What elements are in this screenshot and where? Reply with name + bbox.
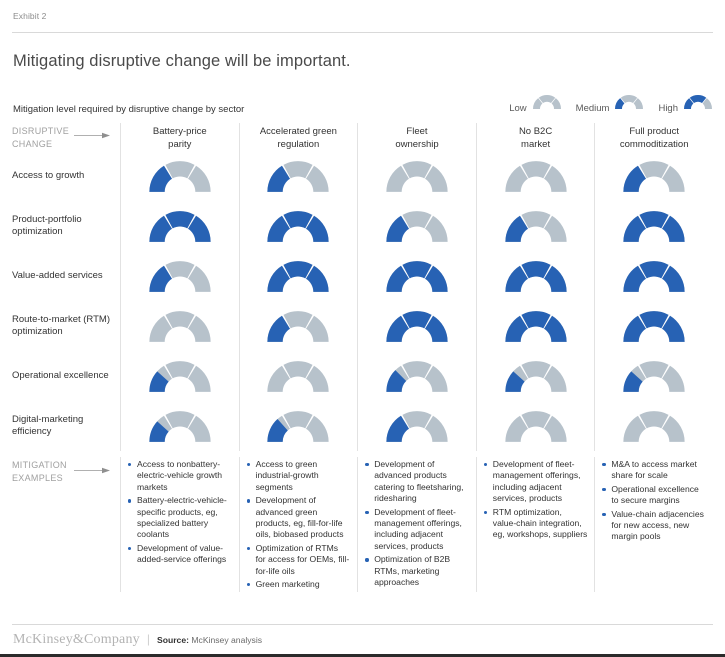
column-header-0-line1: Battery-price [124, 125, 236, 138]
legend-item-medium: Medium [576, 94, 645, 115]
column-header-3: No B2C market [476, 123, 595, 151]
source-value: McKinsey analysis [191, 635, 262, 645]
gauge-icon [621, 309, 687, 344]
column-header-2-line2: ownership [361, 138, 473, 151]
gauge-column-3 [476, 151, 595, 451]
row-label-4: Operational excellence [12, 351, 114, 401]
gauge-icon-high [683, 94, 713, 115]
bullet-item: Development of advanced products caterin… [365, 459, 469, 505]
exhibit-label: Exhibit 2 [12, 0, 713, 21]
right-arrow-icon [74, 467, 110, 474]
gauge-column-4 [594, 151, 713, 451]
legend-item-high: High [658, 94, 713, 115]
row-label-1-line2: optimization [12, 226, 82, 239]
bullet-item: M&A to access market share for scale [602, 459, 706, 482]
bullet-item: Development of fleet-management offering… [365, 507, 469, 553]
gauge-cell-r1-c4 [595, 201, 713, 251]
row-label-1: Product-portfolio optimization [12, 201, 114, 251]
gauge-cell-r4-c0 [121, 351, 239, 401]
row-label-3: Route-to-market (RTM) optimization [12, 301, 114, 351]
gauge-cell-r4-c3 [477, 351, 595, 401]
gauge-icon-low [532, 94, 562, 115]
gauge-cell-r1-c3 [477, 201, 595, 251]
gauge-column-1 [239, 151, 358, 451]
examples-column-0: Access to nonbattery-electric-vehicle gr… [120, 457, 239, 592]
disruptive-change-axis: DISRUPTIVE CHANGE [12, 123, 120, 150]
gauge-icon [503, 309, 569, 344]
row-label-1-line1: Product-portfolio [12, 214, 82, 225]
column-header-4-line1: Full product [598, 125, 710, 138]
gauge-cell-r4-c2 [358, 351, 476, 401]
gauge-icon [621, 409, 687, 444]
gauge-cell-r3-c4 [595, 301, 713, 351]
gauge-icon [621, 359, 687, 394]
bullet-item: Value-chain adjacencies for new access, … [602, 509, 706, 543]
gauge-icon [265, 259, 331, 294]
gauge-cell-r5-c2 [358, 401, 476, 451]
gauge-icon [503, 409, 569, 444]
bullet-list: Development of fleet-management offering… [484, 459, 588, 541]
bullet-item: Optimization of B2B RTMs, marketing appr… [365, 554, 469, 588]
bullet-item: Development of advanced green products, … [247, 495, 351, 541]
legend-label-low: Low [509, 103, 526, 115]
gauge-icon-medium [614, 94, 644, 115]
exhibit-page: Exhibit 2 Mitigating disruptive change w… [0, 0, 725, 657]
gauge-cell-r5-c3 [477, 401, 595, 451]
legend-label-high: High [658, 103, 678, 115]
gauge-icon [384, 309, 450, 344]
gauge-icon [384, 159, 450, 194]
column-header-4: Full product commoditization [594, 123, 713, 151]
gauge-cell-r4-c4 [595, 351, 713, 401]
column-header-1-line2: regulation [243, 138, 355, 151]
gauge-icon [384, 259, 450, 294]
gauge-cell-r3-c1 [240, 301, 358, 351]
row-label-0-line1: Access to growth [12, 170, 84, 181]
legend-label-medium: Medium [576, 103, 610, 115]
source-label: Source: [157, 635, 189, 645]
gauge-icon [147, 359, 213, 394]
examples-column-3: Development of fleet-management offering… [476, 457, 595, 592]
column-header-0: Battery-price parity [120, 123, 239, 151]
column-header-row: DISRUPTIVE CHANGE Battery-price parity A… [12, 123, 713, 151]
column-header-3-line2: market [480, 138, 592, 151]
bullet-item: Access to nonbattery-electric-vehicle gr… [128, 459, 232, 493]
row-label-column: Access to growth Product-portfolio optim… [12, 151, 120, 451]
footer: McKinsey&Company | Source: McKinsey anal… [13, 632, 262, 648]
examples-column-4: M&A to access market share for scaleOper… [594, 457, 713, 592]
examples-column-2: Development of advanced products caterin… [357, 457, 476, 592]
bullet-item: Operational excellence to secure margins [602, 484, 706, 507]
gauge-cell-r5-c1 [240, 401, 358, 451]
gauge-cell-r1-c0 [121, 201, 239, 251]
gauge-column-0 [120, 151, 239, 451]
gauge-icon [503, 359, 569, 394]
column-header-1: Accelerated green regulation [239, 123, 358, 151]
footer-divider [12, 624, 713, 625]
gauge-icon [265, 159, 331, 194]
bullet-item: Battery-electric-vehicle-specific produc… [128, 495, 232, 541]
row-label-0: Access to growth [12, 151, 114, 201]
source-note: Source: McKinsey analysis [157, 635, 262, 645]
row-label-3-line2: optimization [12, 326, 110, 339]
mitigation-examples-row: MITIGATION EXAMPLES Access to nonbattery… [12, 457, 713, 592]
gauge-icon [265, 209, 331, 244]
gauge-icon [147, 309, 213, 344]
column-header-2-line1: Fleet [361, 125, 473, 138]
gauge-icon [384, 359, 450, 394]
gauge-cell-r5-c0 [121, 401, 239, 451]
gauge-icon [147, 259, 213, 294]
bullet-list: Development of advanced products caterin… [365, 459, 469, 588]
gauge-icon [265, 309, 331, 344]
gauge-cell-r4-c1 [240, 351, 358, 401]
axis-title-line2: CHANGE [12, 138, 116, 151]
chart-subtitle: Mitigation level required by disruptive … [13, 104, 244, 115]
gauge-icon [265, 409, 331, 444]
header-divider [12, 32, 713, 33]
row-label-5: Digital-marketing efficiency [12, 401, 114, 451]
bullet-item: Access to green industrial-growth segmen… [247, 459, 351, 493]
page-title: Mitigating disruptive change will be imp… [12, 52, 713, 71]
row-label-2-line1: Value-added services [12, 270, 103, 281]
gauge-icon [384, 209, 450, 244]
column-header-3-line1: No B2C [480, 125, 592, 138]
gauge-cell-r0-c1 [240, 151, 358, 201]
bullet-item: Development of value-added-service offer… [128, 543, 232, 566]
bullet-list: Access to green industrial-growth segmen… [247, 459, 351, 590]
gauge-icon [147, 159, 213, 194]
bullet-item: Green marketing [247, 579, 351, 590]
bullet-item: RTM optimization, value-chain integratio… [484, 507, 588, 541]
row-label-3-line1: Route-to-market (RTM) [12, 314, 110, 325]
gauge-cell-r2-c0 [121, 251, 239, 301]
row-label-5-line2: efficiency [12, 426, 83, 439]
subtitle-legend-row: Mitigation level required by disruptive … [12, 93, 713, 115]
gauge-column-2 [357, 151, 476, 451]
row-label-2: Value-added services [12, 251, 114, 301]
mitigation-examples-axis: MITIGATION EXAMPLES [12, 457, 120, 592]
bullet-item: Development of fleet-management offering… [484, 459, 588, 505]
bullet-list: Access to nonbattery-electric-vehicle gr… [128, 459, 232, 566]
footer-separator: | [147, 632, 150, 646]
gauge-icon [147, 209, 213, 244]
gauge-cell-r2-c4 [595, 251, 713, 301]
gauge-cell-r0-c4 [595, 151, 713, 201]
legend: Low Medium [509, 94, 713, 115]
gauge-icon [503, 159, 569, 194]
gauge-cell-r5-c4 [595, 401, 713, 451]
gauge-cell-r1-c1 [240, 201, 358, 251]
column-header-1-line1: Accelerated green [243, 125, 355, 138]
row-label-5-line1: Digital-marketing [12, 414, 83, 425]
gauge-cell-r3-c3 [477, 301, 595, 351]
gauge-icon [503, 259, 569, 294]
gauge-cell-r2-c1 [240, 251, 358, 301]
gauge-cell-r0-c3 [477, 151, 595, 201]
row-label-4-line1: Operational excellence [12, 370, 109, 381]
gauge-cell-r0-c0 [121, 151, 239, 201]
legend-item-low: Low [509, 94, 561, 115]
gauge-icon [265, 359, 331, 394]
gauge-cell-r2-c2 [358, 251, 476, 301]
column-header-4-line2: commoditization [598, 138, 710, 151]
gauge-cell-r3-c0 [121, 301, 239, 351]
column-header-0-line2: parity [124, 138, 236, 151]
column-header-2: Fleet ownership [357, 123, 476, 151]
bullet-item: Optimization of RTMs for access for OEMs… [247, 543, 351, 577]
gauge-cell-r1-c2 [358, 201, 476, 251]
gauge-cell-r2-c3 [477, 251, 595, 301]
gauge-icon [621, 159, 687, 194]
right-arrow-icon [74, 132, 110, 139]
gauge-cell-r3-c2 [358, 301, 476, 351]
mckinsey-logo: McKinsey&Company [13, 632, 140, 648]
gauge-icon [621, 209, 687, 244]
gauge-grid: Access to growth Product-portfolio optim… [12, 151, 713, 451]
bullet-list: M&A to access market share for scaleOper… [602, 459, 706, 543]
gauge-cell-r0-c2 [358, 151, 476, 201]
gauge-icon [503, 209, 569, 244]
gauge-icon [384, 409, 450, 444]
gauge-icon [621, 259, 687, 294]
examples-column-1: Access to green industrial-growth segmen… [239, 457, 358, 592]
gauge-icon [147, 409, 213, 444]
